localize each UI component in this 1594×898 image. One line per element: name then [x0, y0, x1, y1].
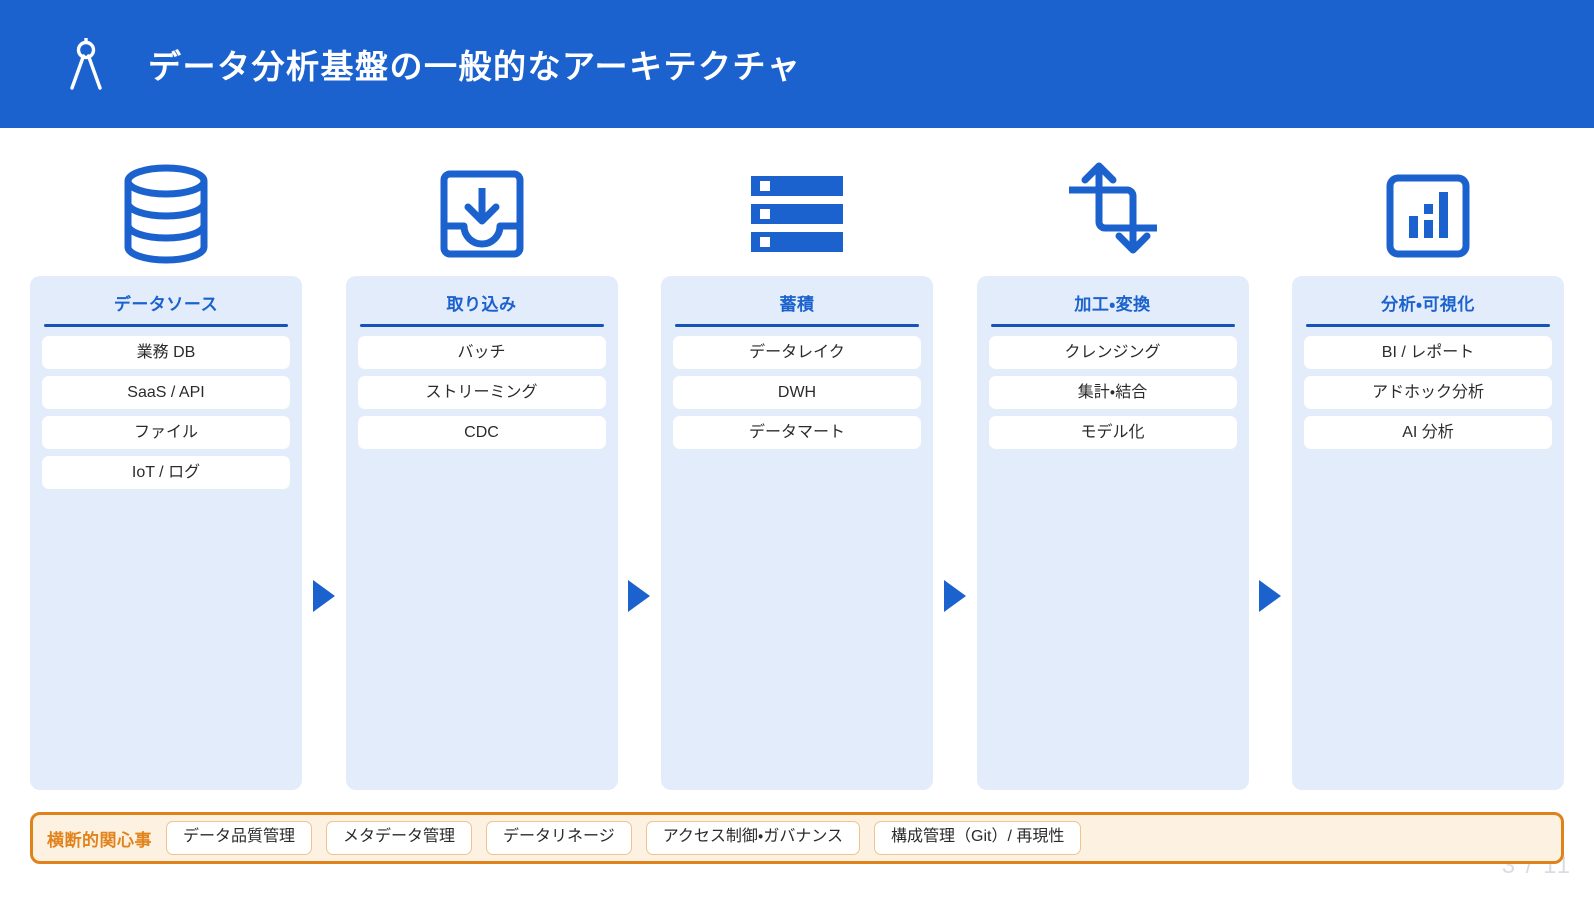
- list-item[interactable]: IoT / ログ: [42, 456, 290, 489]
- list-item[interactable]: ファイル: [42, 416, 290, 449]
- triangle-right-icon: [628, 580, 650, 612]
- triangle-right-icon: [1259, 580, 1281, 612]
- architecture-flow: データソース 業務 DB SaaS / API ファイル IoT / ログ 取り…: [30, 152, 1564, 790]
- stage-column-data-source: データソース 業務 DB SaaS / API ファイル IoT / ログ: [30, 152, 302, 790]
- compass-divider-icon: [64, 37, 108, 91]
- flow-arrow-1: [302, 152, 346, 790]
- list-item[interactable]: バッチ: [358, 336, 606, 369]
- list-item[interactable]: データマート: [673, 416, 921, 449]
- stage-title: データソース: [42, 290, 290, 324]
- stage-title: 蓄積: [673, 290, 921, 324]
- stage-card: 蓄積 データレイク DWH データマート: [661, 276, 933, 790]
- stage-item-list: BI / レポート アドホック分析 AI 分析: [1304, 336, 1552, 449]
- stage-rule: [675, 324, 919, 327]
- crosscutting-chip[interactable]: 構成管理（Git）/ 再現性: [874, 821, 1081, 855]
- list-item[interactable]: クレンジング: [989, 336, 1237, 369]
- header-bar: データ分析基盤の一般的なアーキテクチャ: [0, 0, 1594, 128]
- stage-title: 加工・変換: [989, 290, 1237, 324]
- stage-title: 取り込み: [358, 290, 606, 324]
- stage-rule: [44, 324, 288, 327]
- flow-arrow-3: [933, 152, 977, 790]
- stage-rule: [360, 324, 604, 327]
- crosscutting-chip[interactable]: アクセス制御・ガバナンス: [646, 821, 860, 855]
- stage-title: 分析・可視化: [1304, 290, 1552, 324]
- server-stack-icon: [745, 164, 849, 264]
- list-item[interactable]: CDC: [358, 416, 606, 449]
- crosscutting-label: 横断的関心事: [47, 826, 152, 851]
- triangle-right-icon: [944, 580, 966, 612]
- stage-icon-wrap: [745, 152, 849, 276]
- list-item[interactable]: モデル化: [989, 416, 1237, 449]
- stage-icon-wrap: [1061, 152, 1165, 276]
- page-title: データ分析基盤の一般的なアーキテクチャ: [148, 40, 801, 88]
- stage-item-list: クレンジング 集計・結合 モデル化: [989, 336, 1237, 449]
- list-item[interactable]: アドホック分析: [1304, 376, 1552, 409]
- crosscutting-chip[interactable]: データリネージ: [486, 821, 632, 855]
- stage-item-list: データレイク DWH データマート: [673, 336, 921, 449]
- list-item[interactable]: BI / レポート: [1304, 336, 1552, 369]
- stage-card: 加工・変換 クレンジング 集計・結合 モデル化: [977, 276, 1249, 790]
- stage-item-list: バッチ ストリーミング CDC: [358, 336, 606, 449]
- stage-card: 取り込み バッチ ストリーミング CDC: [346, 276, 618, 790]
- database-cylinder-icon: [118, 164, 214, 264]
- flow-arrow-4: [1249, 152, 1293, 790]
- crosscutting-chip[interactable]: データ品質管理: [166, 821, 312, 855]
- stage-column-storage: 蓄積 データレイク DWH データマート: [661, 152, 933, 790]
- list-item[interactable]: AI 分析: [1304, 416, 1552, 449]
- crosscutting-concerns-bar: 横断的関心事 データ品質管理 メタデータ管理 データリネージ アクセス制御・ガバ…: [30, 812, 1564, 864]
- flow-arrow-2: [618, 152, 662, 790]
- list-item[interactable]: ストリーミング: [358, 376, 606, 409]
- stage-item-list: 業務 DB SaaS / API ファイル IoT / ログ: [42, 336, 290, 489]
- stage-rule: [1306, 324, 1550, 327]
- stage-card: 分析・可視化 BI / レポート アドホック分析 AI 分析: [1292, 276, 1564, 790]
- stage-card: データソース 業務 DB SaaS / API ファイル IoT / ログ: [30, 276, 302, 790]
- transform-arrows-icon: [1061, 158, 1165, 270]
- list-item[interactable]: 集計・結合: [989, 376, 1237, 409]
- stage-icon-wrap: [1380, 152, 1476, 276]
- inbox-download-icon: [434, 164, 530, 264]
- list-item[interactable]: SaaS / API: [42, 376, 290, 409]
- stage-column-analytics: 分析・可視化 BI / レポート アドホック分析 AI 分析: [1292, 152, 1564, 790]
- stage-icon-wrap: [434, 152, 530, 276]
- crosscutting-chip[interactable]: メタデータ管理: [326, 821, 472, 855]
- list-item[interactable]: データレイク: [673, 336, 921, 369]
- list-item[interactable]: 業務 DB: [42, 336, 290, 369]
- stage-rule: [991, 324, 1235, 327]
- list-item[interactable]: DWH: [673, 376, 921, 409]
- stage-column-transform: 加工・変換 クレンジング 集計・結合 モデル化: [977, 152, 1249, 790]
- bar-chart-icon: [1380, 164, 1476, 264]
- stage-column-ingestion: 取り込み バッチ ストリーミング CDC: [346, 152, 618, 790]
- triangle-right-icon: [313, 580, 335, 612]
- stage-icon-wrap: [118, 152, 214, 276]
